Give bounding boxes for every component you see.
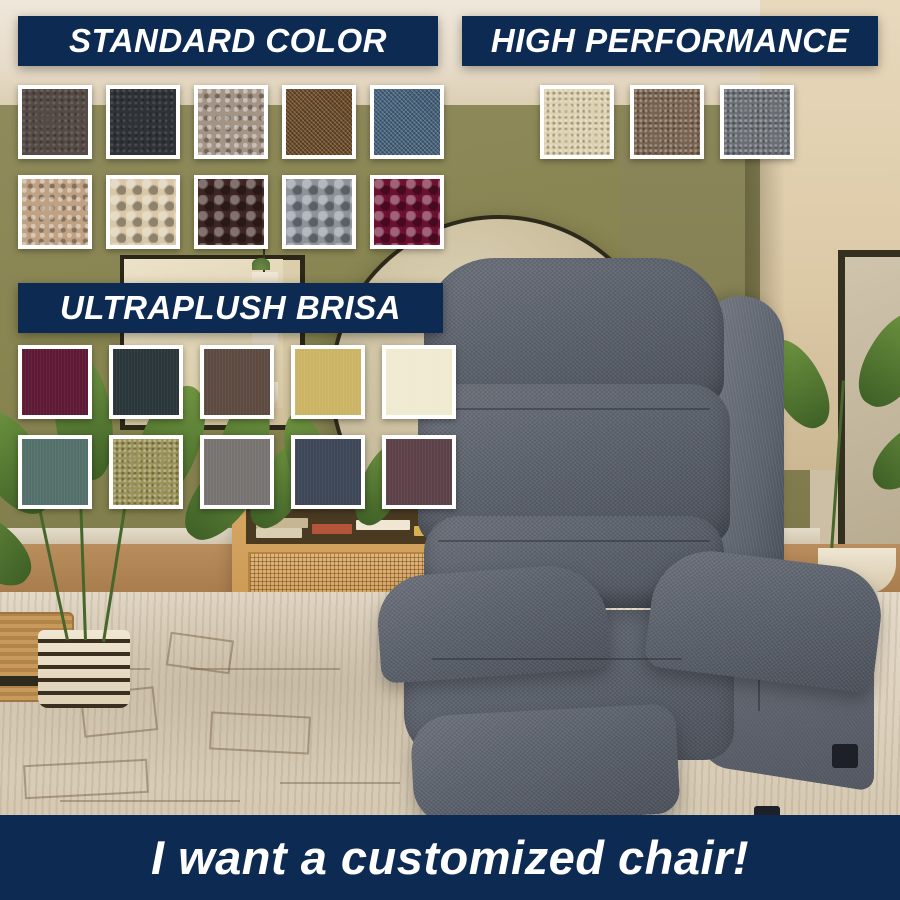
swatch-brisa-wine[interactable] bbox=[18, 345, 92, 419]
swatch-steel-blue-tweed[interactable] bbox=[370, 85, 444, 159]
banner-high-performance-label: HIGH PERFORMANCE bbox=[491, 22, 849, 60]
cta-banner[interactable]: I want a customized chair! bbox=[0, 815, 900, 900]
swatch-brisa-gold[interactable] bbox=[291, 345, 365, 419]
swatch-brisa-dark-teal[interactable] bbox=[109, 345, 183, 419]
swatch-brisa-chocolate[interactable] bbox=[200, 345, 274, 419]
recliner-chair-product bbox=[398, 258, 868, 818]
swatch-brisa-ivory[interactable] bbox=[382, 345, 456, 419]
chair-footrest bbox=[409, 703, 680, 827]
chair-left-armrest bbox=[375, 562, 612, 684]
banner-ultraplush-brisa: ULTRAPLUSH BRISA bbox=[18, 283, 443, 333]
chair-foot bbox=[832, 744, 858, 768]
swatch-black-leather[interactable] bbox=[106, 85, 180, 159]
rug-line bbox=[190, 668, 340, 670]
cta-label: I want a customized chair! bbox=[151, 830, 749, 885]
swatch-oatmeal-boucle[interactable] bbox=[194, 85, 268, 159]
swatch-brisa-olive[interactable] bbox=[109, 435, 183, 509]
chair-seam bbox=[432, 658, 682, 660]
rug-line bbox=[280, 782, 400, 784]
banner-standard-color-label: STANDARD COLOR bbox=[69, 22, 387, 60]
rug-motif bbox=[23, 759, 149, 799]
swatch-cream-pebble[interactable] bbox=[106, 175, 180, 249]
swatch-sand-beige-boucle[interactable] bbox=[18, 175, 92, 249]
rug-line bbox=[60, 800, 240, 802]
chair-seam bbox=[438, 408, 710, 410]
banner-ultraplush-brisa-label: ULTRAPLUSH BRISA bbox=[60, 289, 401, 327]
banner-high-performance: HIGH PERFORMANCE bbox=[462, 16, 878, 66]
swatch-brisa-navy-slate[interactable] bbox=[291, 435, 365, 509]
rug-motif bbox=[209, 711, 311, 754]
swatch-caramel-black-tweed[interactable] bbox=[282, 85, 356, 159]
promo-image: STANDARD COLOR HIGH PERFORMANCE ULTRAPLU… bbox=[0, 0, 900, 900]
swatch-charcoal-brown-leather[interactable] bbox=[18, 85, 92, 159]
swatch-brisa-plum[interactable] bbox=[382, 435, 456, 509]
shelf-book bbox=[312, 524, 352, 534]
shelf-book bbox=[256, 528, 302, 538]
swatch-brisa-sage-green[interactable] bbox=[18, 435, 92, 509]
swatch-espresso-pebble[interactable] bbox=[194, 175, 268, 249]
striped-plant-pot bbox=[38, 630, 130, 708]
swatch-brisa-stone-grey[interactable] bbox=[200, 435, 274, 509]
swatch-graphite-grey[interactable] bbox=[720, 85, 794, 159]
swatch-burgundy-pebble[interactable] bbox=[370, 175, 444, 249]
swatch-taupe-brown-mix[interactable] bbox=[630, 85, 704, 159]
banner-standard-color: STANDARD COLOR bbox=[18, 16, 438, 66]
swatch-ivory-woven[interactable] bbox=[540, 85, 614, 159]
swatch-silver-grey-pebble[interactable] bbox=[282, 175, 356, 249]
planter-leaf-1 bbox=[252, 258, 270, 270]
chair-seam bbox=[438, 540, 710, 542]
